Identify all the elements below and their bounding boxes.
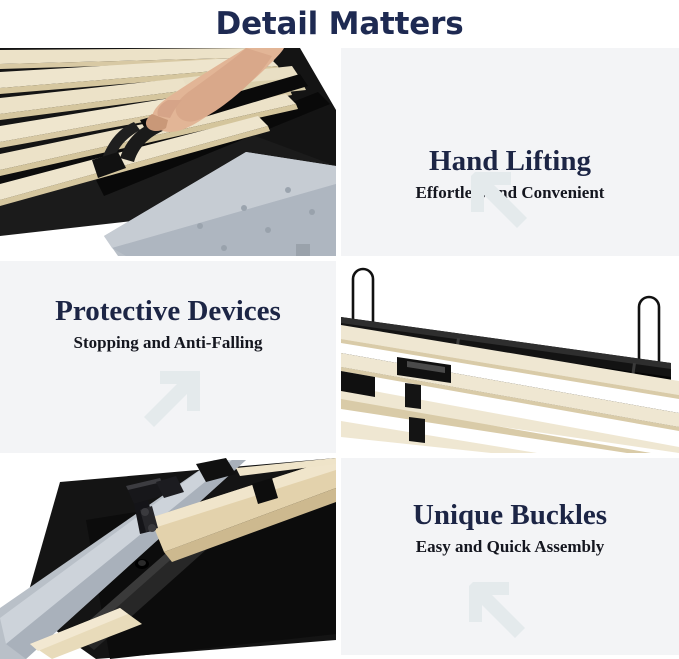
feature-subline-unique-buckles: Easy and Quick Assembly — [341, 538, 679, 556]
infographic-page: Detail Matters — [0, 0, 679, 659]
page-title-bar: Detail Matters — [0, 0, 679, 48]
protective-devices-illustration — [341, 261, 679, 453]
photo-unique-buckles — [0, 458, 336, 659]
arrow-up-right-icon — [140, 365, 210, 431]
photo-protective-devices — [341, 261, 679, 453]
feature-card-protective-devices: Protective Devices Stopping and Anti-Fal… — [0, 261, 336, 453]
feature-headline-protective-devices: Protective Devices — [0, 296, 336, 326]
hand-lifting-illustration — [0, 48, 336, 256]
unique-buckles-illustration — [0, 458, 336, 659]
arrow-up-left-icon — [463, 576, 533, 642]
photo-hand-lifting — [0, 48, 336, 256]
feature-card-unique-buckles: Unique Buckles Easy and Quick Assembly — [341, 458, 679, 655]
feature-subline-protective-devices: Stopping and Anti-Falling — [0, 334, 336, 352]
feature-headline-unique-buckles: Unique Buckles — [341, 500, 679, 530]
page-title: Detail Matters — [216, 9, 464, 40]
arrow-up-left-icon — [465, 166, 535, 232]
feature-card-hand-lifting: Hand Lifting Effortless and Convenient — [341, 48, 679, 256]
